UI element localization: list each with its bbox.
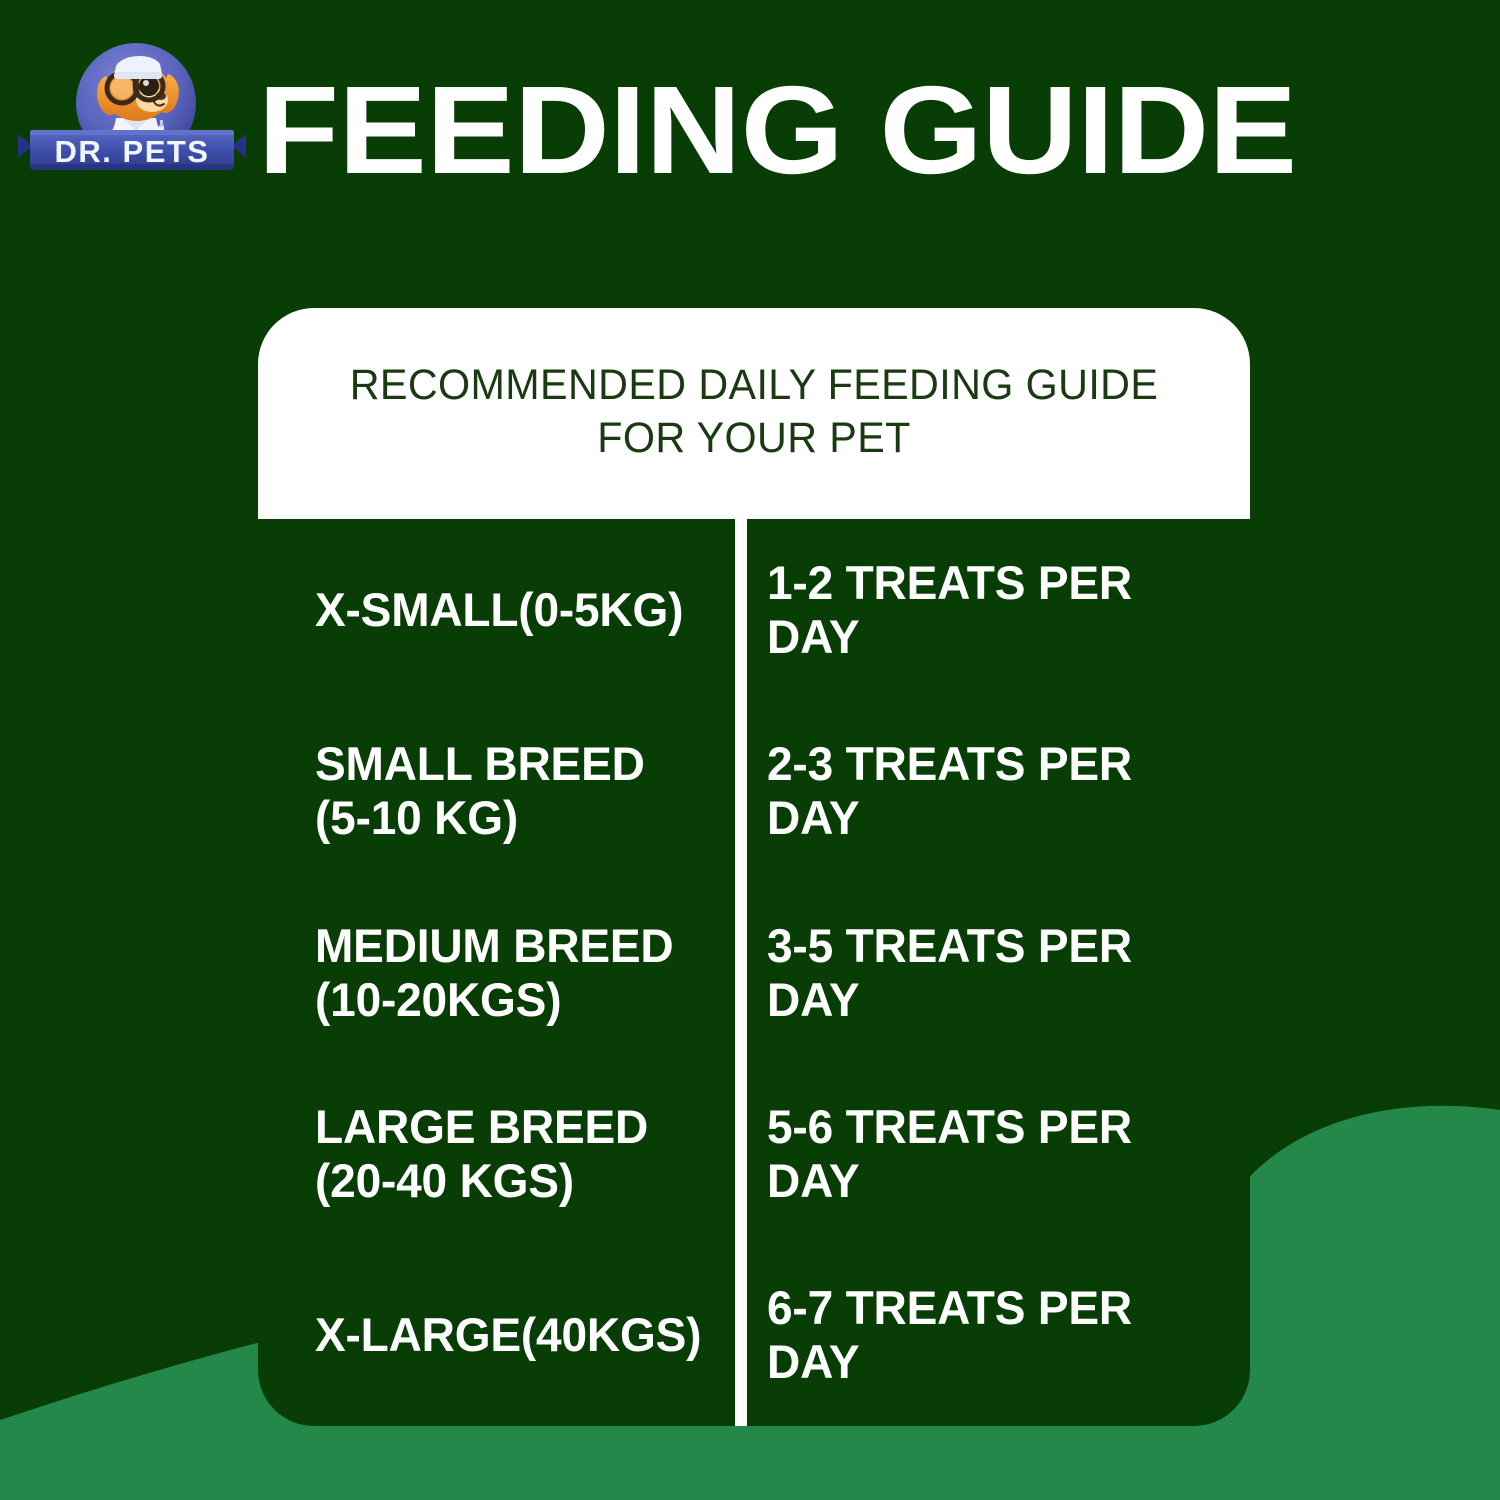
amount-label: 3-5 TREATS PER DAY [767, 919, 1227, 1027]
breed-label: SMALL BREED (5-10 KG) [315, 737, 713, 845]
table-row: X-SMALL(0-5KG) 1-2 TREATS PER DAY [258, 519, 1250, 700]
brand-logo: DR. PETS [18, 30, 246, 190]
table-cell-amount: 1-2 TREATS PER DAY [735, 556, 1250, 664]
amount-label: 6-7 TREATS PER DAY [767, 1281, 1227, 1389]
amount-label: 1-2 TREATS PER DAY [767, 556, 1227, 664]
table-cell-amount: 5-6 TREATS PER DAY [735, 1100, 1250, 1208]
page-title: FEEDING GUIDE [258, 72, 1329, 190]
table-cell-amount: 3-5 TREATS PER DAY [735, 919, 1250, 1027]
table-row: SMALL BREED (5-10 KG) 2-3 TREATS PER DAY [258, 700, 1250, 881]
table-row: X-LARGE(40KGS) 6-7 TREATS PER DAY [258, 1245, 1250, 1426]
table-row: MEDIUM BREED (10-20KGS) 3-5 TREATS PER D… [258, 882, 1250, 1063]
feeding-guide-card: RECOMMENDED DAILY FEEDING GUIDE FOR YOUR… [258, 308, 1250, 1426]
guide-header-panel: RECOMMENDED DAILY FEEDING GUIDE FOR YOUR… [258, 308, 1250, 519]
breed-label: X-SMALL(0-5KG) [315, 583, 713, 637]
breed-label: MEDIUM BREED (10-20KGS) [315, 919, 713, 1027]
feeding-table: X-SMALL(0-5KG) 1-2 TREATS PER DAY SMALL … [258, 519, 1250, 1426]
table-cell-amount: 2-3 TREATS PER DAY [735, 737, 1250, 845]
table-row: LARGE BREED (20-40 KGS) 5-6 TREATS PER D… [258, 1063, 1250, 1244]
table-cell-breed: LARGE BREED (20-40 KGS) [258, 1100, 735, 1208]
table-cell-breed: X-LARGE(40KGS) [258, 1308, 735, 1362]
amount-label: 2-3 TREATS PER DAY [767, 737, 1227, 845]
brand-wordmark: DR. PETS [55, 134, 210, 169]
table-cell-breed: SMALL BREED (5-10 KG) [258, 737, 735, 845]
breed-label: LARGE BREED (20-40 KGS) [315, 1100, 713, 1208]
guide-headline: RECOMMENDED DAILY FEEDING GUIDE FOR YOUR… [335, 359, 1172, 465]
table-cell-breed: X-SMALL(0-5KG) [258, 583, 735, 637]
table-cell-amount: 6-7 TREATS PER DAY [735, 1281, 1250, 1389]
table-cell-breed: MEDIUM BREED (10-20KGS) [258, 919, 735, 1027]
breed-label: X-LARGE(40KGS) [315, 1308, 713, 1362]
amount-label: 5-6 TREATS PER DAY [767, 1100, 1227, 1208]
